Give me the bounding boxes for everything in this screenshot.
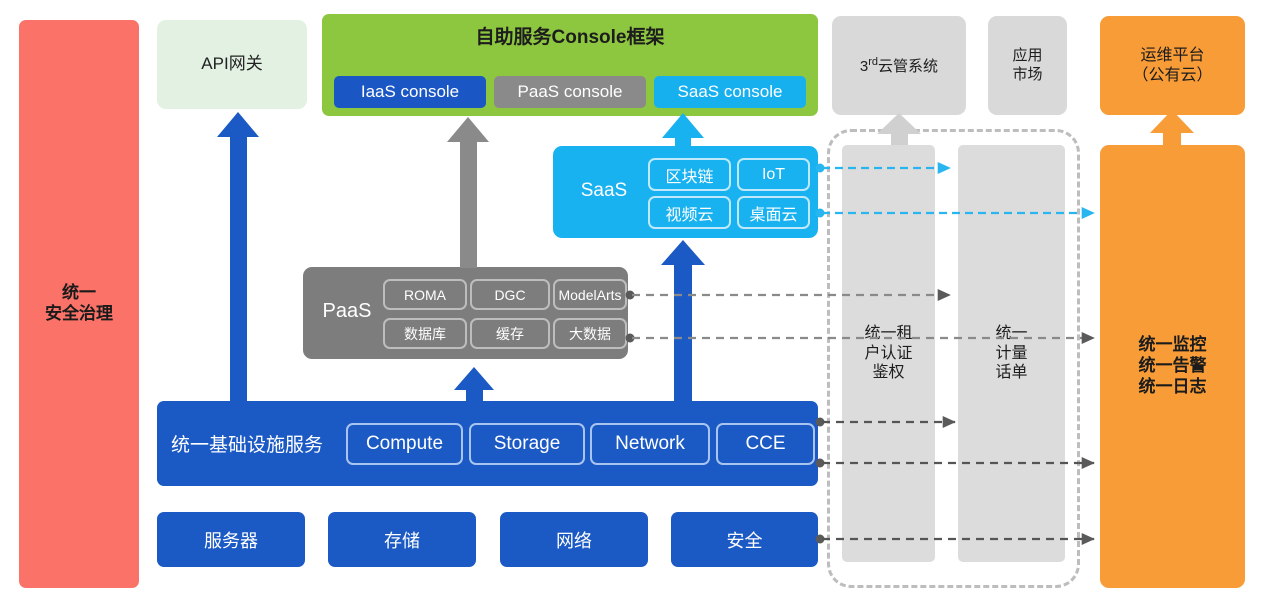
infra-chip-compute[interactable]: Compute xyxy=(346,423,463,465)
arrow-infra-to-paas xyxy=(454,367,494,403)
app-market-box: 应用 市场 xyxy=(988,16,1067,115)
infra-chip-storage[interactable]: Storage xyxy=(469,423,585,465)
arrow-infra-to-saas xyxy=(661,240,705,403)
api-gateway-box: API网关 xyxy=(157,20,307,109)
unified-tenant-auth-label: 统一租 户认证 鉴权 xyxy=(864,324,912,383)
resource-box-network: 网络 xyxy=(500,512,648,567)
self-service-console-framework: 自助服务Console框架 IaaS console PaaS console … xyxy=(322,14,818,116)
arrow-saas-to-saas-console xyxy=(662,113,704,149)
resource-box-security-label: 安全 xyxy=(727,527,763,553)
saas-layer-box: SaaS 区块链 IoT 视频云 桌面云 xyxy=(553,146,818,238)
unified-security-governance-label: 统一 安全治理 xyxy=(45,283,113,324)
paas-layer-title: PaaS xyxy=(311,300,383,323)
unified-security-governance-pillar: 统一 安全治理 xyxy=(19,20,139,588)
unified-metering-billing-column: 统一 计量 话单 xyxy=(958,145,1065,562)
saas-layer-title: SaaS xyxy=(565,180,643,202)
unified-monitoring-column: 统一监控 统一告警 统一日志 xyxy=(1100,145,1245,588)
unified-infrastructure-service-bar: 统一基础设施服务 Compute Storage Network CCE xyxy=(157,401,818,486)
saas-chip-blockchain[interactable]: 区块链 xyxy=(648,158,731,191)
paas-chip-bigdata[interactable]: 大数据 xyxy=(553,318,627,349)
resource-box-server: 服务器 xyxy=(157,512,305,567)
paas-chip-modelarts[interactable]: ModelArts xyxy=(553,279,627,310)
arrow-paas-to-console xyxy=(447,117,489,268)
paas-chip-roma[interactable]: ROMA xyxy=(383,279,467,310)
infra-chip-network[interactable]: Network xyxy=(590,423,710,465)
resource-box-network-label: 网络 xyxy=(556,527,592,553)
app-market-label: 应用 市场 xyxy=(1012,47,1042,84)
resource-box-storage-label: 存储 xyxy=(384,527,420,553)
saas-chip-video-cloud[interactable]: 视频云 xyxy=(648,196,731,229)
resource-box-server-label: 服务器 xyxy=(204,527,258,553)
ops-platform-public-cloud-box: 运维平台 （公有云） xyxy=(1100,16,1245,115)
paas-chip-cache[interactable]: 缓存 xyxy=(470,318,550,349)
arrow-infra-to-api-gateway xyxy=(217,112,259,402)
infra-chip-cce[interactable]: CCE xyxy=(716,423,815,465)
iaas-console-chip[interactable]: IaaS console xyxy=(334,76,486,108)
unified-metering-billing-label: 统一 计量 话单 xyxy=(995,324,1027,383)
unified-monitoring-label: 统一监控 统一告警 统一日志 xyxy=(1139,335,1207,397)
saas-chip-desktop-cloud[interactable]: 桌面云 xyxy=(737,196,810,229)
saas-console-chip[interactable]: SaaS console xyxy=(654,76,806,108)
console-framework-title: 自助服务Console框架 xyxy=(322,22,818,49)
paas-console-chip[interactable]: PaaS console xyxy=(494,76,646,108)
api-gateway-label: API网关 xyxy=(201,54,262,75)
arrow-ops-column-to-ops-platform xyxy=(1150,110,1194,146)
resource-box-storage: 存储 xyxy=(328,512,476,567)
unified-tenant-auth-column: 统一租 户认证 鉴权 xyxy=(842,145,935,562)
unified-infrastructure-title: 统一基础设施服务 xyxy=(171,430,323,457)
paas-layer-box: PaaS ROMA DGC ModelArts 数据库 缓存 大数据 xyxy=(303,267,628,359)
saas-chip-iot[interactable]: IoT xyxy=(737,158,810,191)
architecture-diagram: 统一 安全治理 API网关 自助服务Console框架 IaaS console… xyxy=(0,0,1265,605)
paas-chip-database[interactable]: 数据库 xyxy=(383,318,467,349)
third-party-cloud-management-box: 3rd云管系统 xyxy=(832,16,966,115)
ops-platform-label: 运维平台 （公有云） xyxy=(1132,46,1212,85)
resource-box-security: 安全 xyxy=(671,512,818,567)
third-party-cloud-management-label: 3rd云管系统 xyxy=(860,55,938,76)
paas-chip-dgc[interactable]: DGC xyxy=(470,279,550,310)
